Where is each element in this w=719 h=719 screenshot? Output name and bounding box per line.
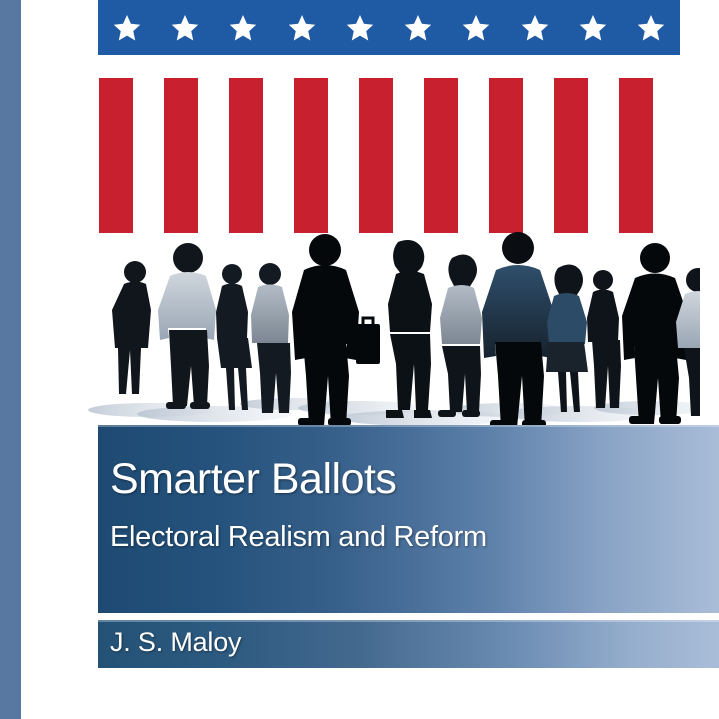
figure-silhouette xyxy=(676,268,700,416)
crowd-silhouette-illustration xyxy=(80,232,700,430)
star-icon xyxy=(403,13,433,43)
star-icon xyxy=(461,13,491,43)
figure-silhouette xyxy=(438,254,482,417)
star-icon xyxy=(520,13,550,43)
flag-artwork xyxy=(98,0,680,240)
title-band: Smarter Ballots Electoral Realism and Re… xyxy=(98,425,719,613)
stripe xyxy=(424,78,458,233)
figure-silhouette xyxy=(587,270,621,408)
figure-silhouette xyxy=(158,243,216,409)
star-icon xyxy=(345,13,375,43)
star-icon xyxy=(112,13,142,43)
figure-silhouette xyxy=(546,264,588,412)
star-icon xyxy=(287,13,317,43)
stripe-group xyxy=(98,78,680,233)
author-band-top-edge xyxy=(98,620,719,622)
figure-silhouette xyxy=(251,263,291,413)
figure-silhouette xyxy=(482,232,554,428)
stripe xyxy=(489,78,523,233)
star-icon xyxy=(170,13,200,43)
stripe xyxy=(294,78,328,233)
figure-silhouette xyxy=(292,234,380,426)
star-icon xyxy=(578,13,608,43)
stripe xyxy=(99,78,133,233)
figure-silhouette xyxy=(112,261,151,394)
star-banner xyxy=(98,0,680,55)
star-icon xyxy=(228,13,258,43)
author-band: J. S. Maloy xyxy=(98,620,719,668)
stripe xyxy=(229,78,263,233)
left-spine-strip xyxy=(0,0,21,719)
page-title: Smarter Ballots xyxy=(110,458,396,501)
title-band-top-edge xyxy=(98,425,719,427)
stripe xyxy=(619,78,653,233)
author-name: J. S. Maloy xyxy=(110,629,241,656)
stripe xyxy=(554,78,588,233)
stripe xyxy=(164,78,198,233)
star-icon xyxy=(636,13,666,43)
figure-silhouette xyxy=(216,264,252,410)
stripe xyxy=(359,78,393,233)
page-subtitle: Electoral Realism and Reform xyxy=(110,523,487,552)
book-cover: Smarter Ballots Electoral Realism and Re… xyxy=(0,0,719,719)
figure-silhouette xyxy=(386,240,432,418)
